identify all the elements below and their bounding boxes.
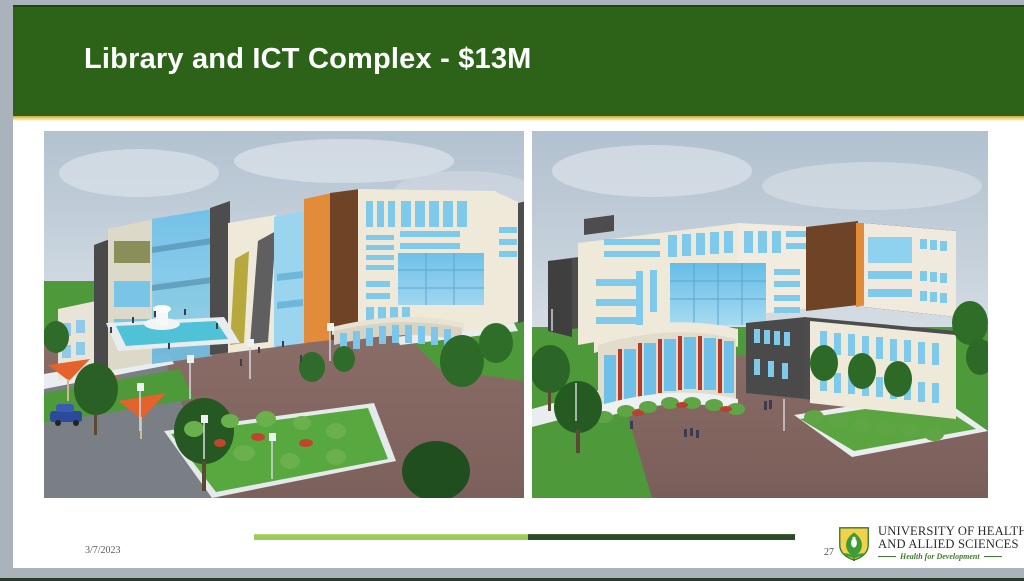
slide-footer: 3/7/2023 27 UNIVERSITY OF HEALTH AND AL [13, 511, 1024, 568]
logo-tagline-row: Health for Development [878, 552, 1024, 561]
rendering-left-graphic [44, 131, 524, 498]
slide-progress-bar [254, 534, 795, 540]
page-title: Library and ICT Complex - $13M [84, 43, 532, 76]
tagline-rule-right [984, 556, 1002, 557]
logo-line-2: AND ALLIED SCIENCES [878, 538, 1024, 551]
logo-tagline: Health for Development [900, 552, 980, 561]
tagline-rule-left [878, 556, 896, 557]
architectural-rendering-right [532, 131, 988, 498]
rendering-right-graphic [532, 131, 988, 498]
footer-date: 3/7/2023 [85, 545, 121, 556]
window-chrome-bottom [0, 568, 1024, 581]
university-logo: UNIVERSITY OF HEALTH AND ALLIED SCIENCES… [835, 523, 1024, 563]
progress-remaining-segment [528, 534, 795, 540]
university-logo-text: UNIVERSITY OF HEALTH AND ALLIED SCIENCES… [878, 525, 1024, 561]
slide-number: 27 [824, 547, 834, 558]
presentation-slide: Library and ICT Complex - $13M [0, 0, 1024, 581]
architectural-rendering-left [44, 131, 524, 498]
shield-icon [835, 524, 873, 562]
slide-body [13, 121, 1024, 511]
progress-completed-segment [254, 534, 528, 540]
window-chrome-left [0, 0, 13, 568]
slide-canvas: Library and ICT Complex - $13M [13, 5, 1024, 568]
